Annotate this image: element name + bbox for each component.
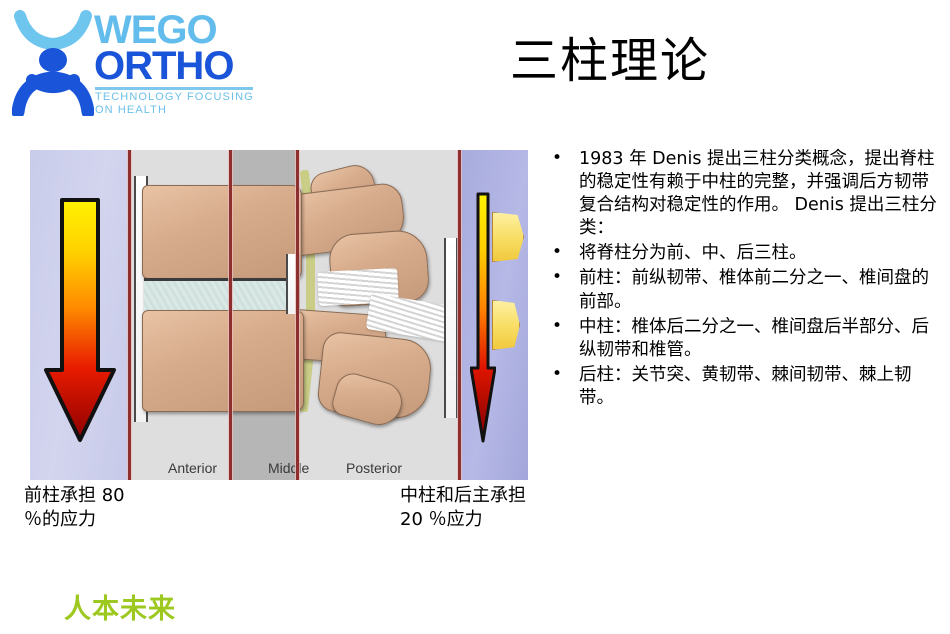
intervertebral-disc (144, 278, 296, 314)
slide-title: 三柱理论 (300, 36, 920, 86)
bullet-item: 前柱：前纵韧带、椎体前二分之一、椎间盘的前部。 (545, 267, 945, 313)
spinal-cord-segment-middle (306, 246, 315, 314)
zone-label-anterior: Anterior (168, 460, 217, 476)
large-down-arrow-icon (44, 198, 116, 443)
zone-label-middle: Middle (268, 460, 309, 476)
column-divider-line-3 (296, 150, 299, 480)
caption-middle-posterior-load: 中柱和后主承担 20 ％应力 (400, 484, 620, 533)
bullet-item: 1983 年 Denis 提出三柱分类概念，提出脊柱的稳定性有赖于中柱的完整，并… (545, 148, 945, 240)
small-down-arrow-icon (470, 192, 496, 444)
spine-three-column-figure: Anterior Middle Posterior (30, 150, 528, 480)
column-divider-line-2 (229, 150, 232, 480)
supraspinous-ligament-band (444, 238, 458, 418)
posterior-element-plate-lower (492, 300, 520, 350)
bullet-list: 1983 年 Denis 提出三柱分类概念，提出脊柱的稳定性有赖于中柱的完整，并… (545, 148, 945, 412)
right-arrow-group (462, 150, 528, 480)
logo-tagline-line2: ON HEALTH (95, 104, 167, 116)
bullet-item: 将脊柱分为前、中、后三柱。 (545, 242, 945, 265)
bullet-item: 后柱：关节突、黄韧带、棘间韧带、棘上韧带。 (545, 364, 945, 410)
brand-logo: WEGO ORTHO TECHNOLOGY FOCUSING ON HEALTH (8, 4, 278, 122)
upper-vertebral-body (142, 185, 302, 279)
footer-slogan: 人本未来 (64, 587, 176, 626)
logo-divider-rule (95, 87, 253, 90)
caption-anterior-load: 前柱承担 80 ％的应力 (24, 484, 234, 533)
logo-tagline-line1: TECHNOLOGY FOCUSING (95, 91, 254, 103)
posterior-element-plate-upper (492, 212, 524, 262)
column-divider-line-4 (458, 150, 461, 480)
column-divider-line-1 (128, 150, 131, 480)
zone-label-posterior: Posterior (346, 460, 402, 476)
logo-wordmark-ortho: ORTHO (94, 46, 233, 86)
bullet-item: 中柱：椎体后二分之一、椎间盘后半部分、后纵韧带和椎管。 (545, 316, 945, 362)
lower-vertebral-body (142, 310, 304, 412)
wego-human-figure-icon (12, 8, 94, 116)
